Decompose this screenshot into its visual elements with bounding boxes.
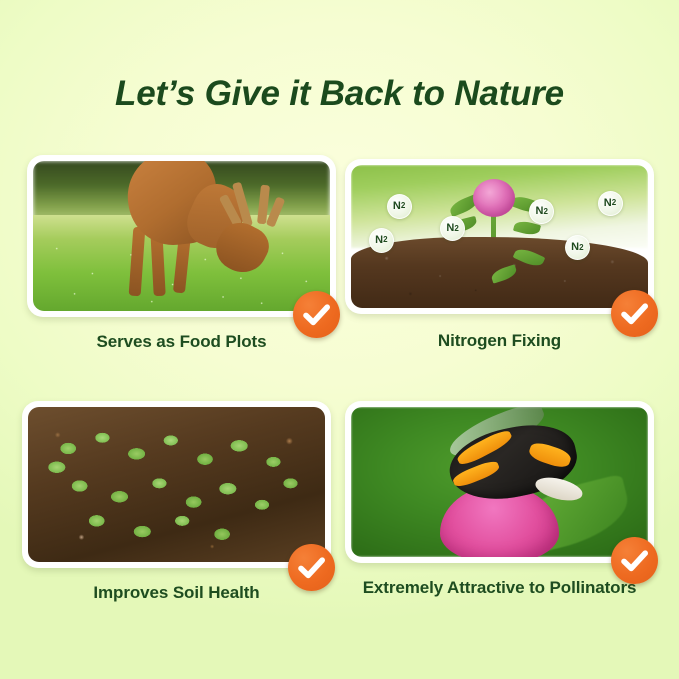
- n2-subscript: 2: [612, 199, 616, 207]
- check-icon: [611, 537, 658, 584]
- check-icon: [288, 544, 335, 591]
- feature-caption-soil-health: Improves Soil Health: [22, 583, 331, 603]
- n2-label: N: [393, 201, 401, 212]
- clover-bloom: [473, 179, 515, 217]
- check-icon: [611, 290, 658, 337]
- n2-subscript: 2: [401, 202, 405, 210]
- feature-card-pollinators[interactable]: Extremely Attractive to Pollinators: [345, 401, 654, 598]
- feature-card-food-plots[interactable]: Serves as Food Plots: [27, 155, 336, 352]
- card-frame: [345, 401, 654, 563]
- n2-subscript: 2: [543, 208, 547, 216]
- photo-nitrogen: N2 N2 N2 N2 N2: [351, 165, 648, 308]
- n2-molecule-icon: N2: [565, 235, 590, 260]
- card-frame: [27, 155, 336, 317]
- deer-scene: [33, 161, 330, 311]
- feature-card-soil-health[interactable]: Improves Soil Health: [22, 401, 331, 603]
- check-badge-food-plots: [293, 291, 340, 338]
- infographic-root: Let’s Give it Back to Nature: [0, 0, 679, 679]
- n2-label: N: [446, 223, 454, 234]
- n2-label: N: [571, 242, 579, 253]
- photo-seedlings: [28, 407, 325, 562]
- n2-label: N: [535, 206, 543, 217]
- photo-bumblebee: [351, 407, 648, 557]
- seedling-cluster: [34, 419, 319, 552]
- n2-subscript: 2: [454, 225, 458, 233]
- n2-molecule-icon: N2: [598, 191, 623, 216]
- soil-scene: [28, 407, 325, 562]
- check-icon: [293, 291, 340, 338]
- check-badge-pollinators: [611, 537, 658, 584]
- n2-subscript: 2: [579, 244, 583, 252]
- n2-molecule-icon: N2: [369, 228, 394, 253]
- n2-subscript: 2: [383, 236, 387, 244]
- card-frame: [22, 401, 331, 568]
- n2-molecule-icon: N2: [387, 194, 412, 219]
- card-frame: N2 N2 N2 N2 N2: [345, 159, 654, 314]
- feature-caption-pollinators: Extremely Attractive to Pollinators: [345, 578, 654, 598]
- feature-card-nitrogen-fixing[interactable]: N2 N2 N2 N2 N2: [345, 159, 654, 351]
- feature-caption-food-plots: Serves as Food Plots: [27, 332, 336, 352]
- nitrogen-scene: N2 N2 N2 N2 N2: [351, 165, 648, 308]
- check-badge-nitrogen-fixing: [611, 290, 658, 337]
- feature-caption-nitrogen-fixing: Nitrogen Fixing: [345, 331, 654, 351]
- n2-label: N: [375, 235, 383, 246]
- page-title: Let’s Give it Back to Nature: [0, 72, 679, 116]
- pollinator-scene: [351, 407, 648, 557]
- check-badge-soil-health: [288, 544, 335, 591]
- photo-deer: [33, 161, 330, 311]
- n2-label: N: [604, 198, 612, 209]
